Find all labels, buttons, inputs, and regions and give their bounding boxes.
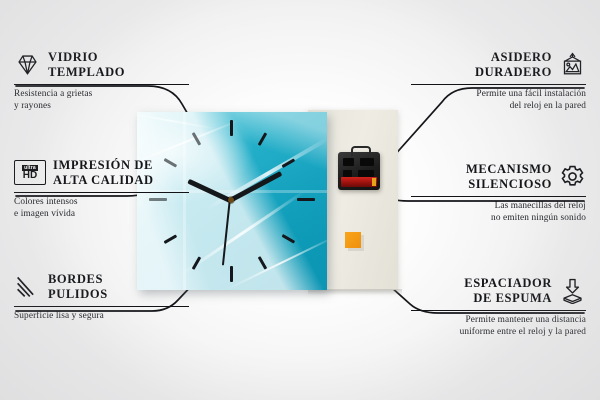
feature-description: e imagen vívida	[14, 208, 189, 220]
clock-tick	[258, 132, 267, 145]
feature-espaciador-de-espuma: ESPACIADOR DE ESPUMA Permite mantener un…	[411, 276, 586, 339]
feature-description: Resistencia a grietas	[14, 88, 189, 100]
feature-title: MECANISMO	[466, 162, 552, 177]
feature-description: Colores intensos	[14, 196, 189, 208]
foam-spacer	[345, 232, 361, 248]
mechanism-detail	[343, 170, 352, 177]
infographic-canvas: VIDRIO TEMPLADO Resistencia a grietas y …	[0, 0, 600, 400]
feature-title: TEMPLADO	[48, 65, 125, 80]
foam-spacer-icon	[559, 277, 586, 304]
feature-title: PULIDOS	[48, 287, 108, 302]
divider	[411, 84, 586, 86]
clock-tick	[230, 120, 233, 136]
feature-mecanismo-silencioso: MECANISMO SILENCIOSO Las manecillas del …	[411, 162, 586, 225]
divider	[411, 196, 586, 198]
feature-title: SILENCIOSO	[466, 177, 552, 192]
ultra-hd-icon: ultra HD	[14, 160, 46, 185]
quartz-mechanism	[338, 152, 380, 190]
feature-description: Permite mantener una distancia	[411, 314, 586, 326]
clock-tick	[282, 234, 295, 243]
mechanism-detail	[360, 158, 374, 166]
divider	[14, 192, 189, 194]
feature-impresion-alta-calidad: ultra HD IMPRESIÓN DE ALTA CALIDAD Color…	[14, 158, 189, 221]
second-hand	[222, 200, 230, 266]
diamond-icon	[14, 51, 41, 78]
minute-hand	[229, 171, 283, 203]
mechanism-detail	[358, 170, 374, 177]
feature-title: BORDES	[48, 272, 108, 287]
feature-description: Permite una fácil instalación	[411, 88, 586, 100]
feature-description: Superficie lisa y segura	[14, 310, 189, 322]
feature-bordes-pulidos: BORDES PULIDOS Superficie lisa y segura	[14, 272, 189, 322]
clock-tick	[230, 266, 233, 282]
feature-title: DURADERO	[475, 65, 552, 80]
feature-description: y rayones	[14, 100, 189, 112]
feature-title: ESPACIADOR	[464, 276, 552, 291]
feather-streak	[227, 236, 327, 290]
mechanism-hook	[351, 146, 371, 156]
divider	[14, 84, 189, 86]
feature-title: ALTA CALIDAD	[53, 173, 154, 188]
feature-title: DE ESPUMA	[464, 291, 552, 306]
mechanism-detail	[343, 158, 354, 166]
polished-edges-icon	[14, 273, 41, 300]
picture-hanger-icon	[559, 51, 586, 78]
clock-hub	[228, 197, 234, 203]
divider	[14, 306, 189, 308]
clock-tick	[164, 234, 177, 243]
gear-icon	[559, 163, 586, 190]
clock-tick	[297, 198, 315, 201]
clock-tick	[258, 256, 267, 269]
feature-description: uniforme entre el reloj y la pared	[411, 326, 586, 338]
feature-title: IMPRESIÓN DE	[53, 158, 154, 173]
feature-vidrio-templado: VIDRIO TEMPLADO Resistencia a grietas y …	[14, 50, 189, 113]
feature-description: del reloj en la pared	[411, 100, 586, 112]
feather-streak	[137, 112, 216, 130]
feature-asidero-duradero: ASIDERO DURADERO Permite una fácil insta…	[411, 50, 586, 113]
divider	[411, 310, 586, 312]
aa-battery	[341, 177, 377, 187]
feature-description: Las manecillas del reloj	[411, 200, 586, 212]
ultra-hd-icon-bottom: HD	[23, 171, 37, 181]
feature-title: ASIDERO	[475, 50, 552, 65]
feature-description: no emiten ningún sonido	[411, 212, 586, 224]
feather-streak	[179, 190, 305, 276]
feature-title: VIDRIO	[48, 50, 125, 65]
